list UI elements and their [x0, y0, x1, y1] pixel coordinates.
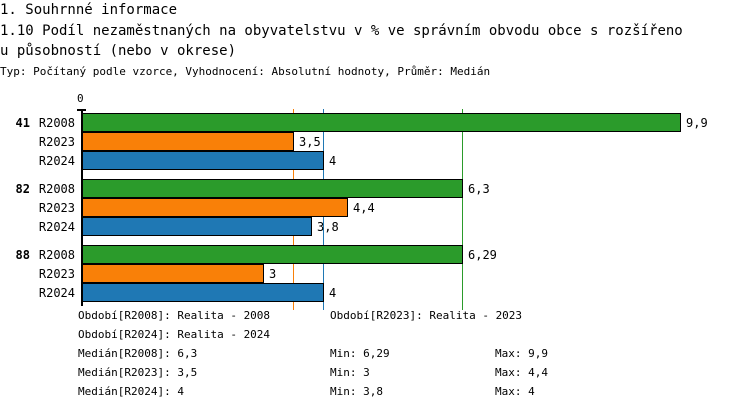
bar-value-label: 4 — [329, 155, 336, 167]
chart-footer: Období[R2008]: Realita - 2008Období[R202… — [0, 305, 750, 414]
bar-41-r2008[interactable] — [82, 113, 681, 132]
stat-min-3: Min: 3,8 — [330, 386, 383, 397]
bar-88-r2024[interactable] — [82, 283, 324, 302]
bar-value-label: 3,8 — [317, 221, 339, 233]
bar-88-r2023[interactable] — [82, 264, 264, 283]
row-label-r2023: R2023 — [0, 136, 75, 148]
legend-entry-3: Období[R2024]: Realita - 2024 — [78, 329, 270, 340]
legend-entry-2: Období[R2023]: Realita - 2023 — [330, 310, 522, 321]
stat-max-2: Max: 4,4 — [495, 367, 548, 378]
group-label-88: 88 — [0, 249, 30, 261]
row-label-r2024: R2024 — [0, 287, 75, 299]
row-label-r2024: R2024 — [0, 221, 75, 233]
median-line-r2008 — [462, 109, 463, 310]
legend-entry-1: Období[R2008]: Realita - 2008 — [78, 310, 270, 321]
stat-min-2: Min: 3 — [330, 367, 370, 378]
stat-median-2: Medián[R2023]: 3,5 — [78, 367, 197, 378]
bar-41-r2024[interactable] — [82, 151, 324, 170]
bar-value-label: 3,5 — [299, 136, 321, 148]
bar-value-label: 4,4 — [353, 202, 375, 214]
section-heading: 1. Souhrnné informace — [0, 2, 177, 18]
bar-value-label: 4 — [329, 287, 336, 299]
stat-median-3: Medián[R2024]: 4 — [78, 386, 184, 397]
bar-chart-plot: 09,9R20083,5R20234R20246,3R20084,4R20233… — [0, 88, 750, 293]
group-label-41: 41 — [0, 117, 30, 129]
group-label-82: 82 — [0, 183, 30, 195]
bar-82-r2024[interactable] — [82, 217, 312, 236]
stat-median-1: Medián[R2008]: 6,3 — [78, 348, 197, 359]
stat-max-1: Max: 9,9 — [495, 348, 548, 359]
bar-value-label: 6,3 — [468, 183, 490, 195]
page-title-line1: 1.10 Podíl nezaměstnaných na obyvatelstv… — [0, 23, 683, 39]
page-title-line2: u působností (nebo v okrese) — [0, 43, 236, 59]
stat-max-3: Max: 4 — [495, 386, 535, 397]
row-label-r2023: R2023 — [0, 268, 75, 280]
chart-subtitle: Typ: Počítaný podle vzorce, Vyhodnocení:… — [0, 65, 490, 78]
chart-page: 1. Souhrnné informace 1.10 Podíl nezaměs… — [0, 0, 750, 414]
row-label-r2023: R2023 — [0, 202, 75, 214]
bar-88-r2008[interactable] — [82, 245, 463, 264]
bar-value-label: 6,29 — [468, 249, 497, 261]
bar-82-r2008[interactable] — [82, 179, 463, 198]
bar-value-label: 3 — [269, 268, 276, 280]
bar-41-r2023[interactable] — [82, 132, 294, 151]
stat-min-1: Min: 6,29 — [330, 348, 390, 359]
bar-82-r2023[interactable] — [82, 198, 348, 217]
row-label-r2024: R2024 — [0, 155, 75, 167]
bar-value-label: 9,9 — [686, 117, 708, 129]
x-axis-tick-label-0: 0 — [77, 93, 84, 104]
